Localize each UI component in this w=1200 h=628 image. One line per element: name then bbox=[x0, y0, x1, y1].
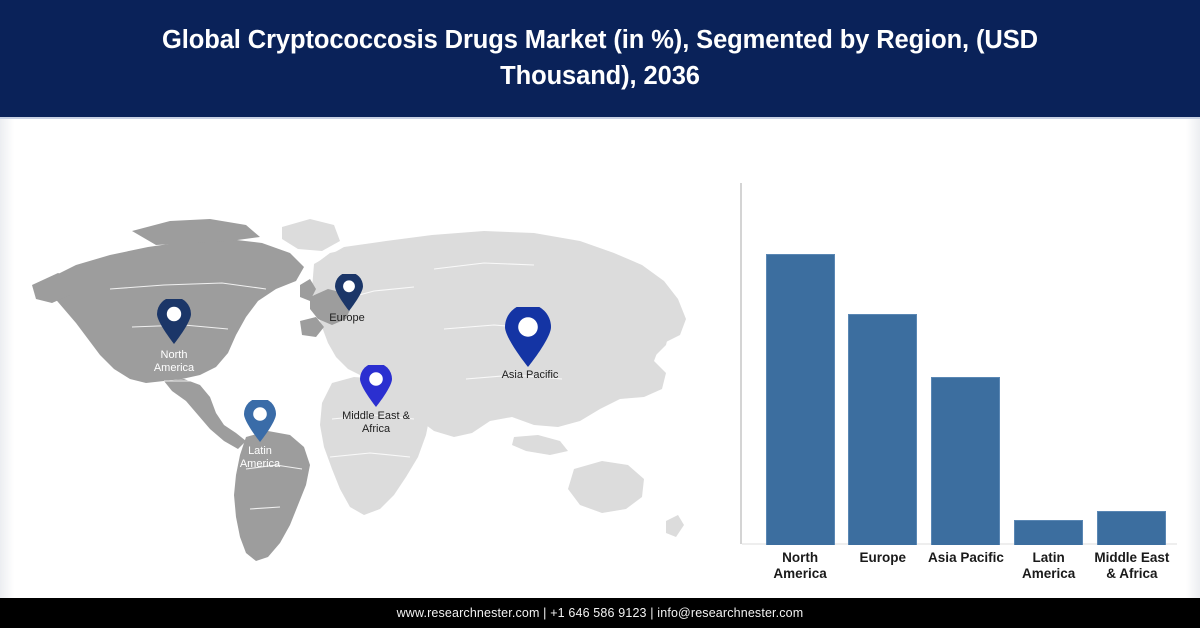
map-label-middle-east-africa: Middle East & Africa bbox=[342, 410, 410, 436]
region-bar-chart: North AmericaEuropeAsia PacificLatin Ame… bbox=[725, 174, 1185, 594]
location-pin-icon bbox=[244, 400, 276, 442]
map-pin-middle-east-africa[interactable] bbox=[360, 365, 392, 407]
world-map: North America Europe Latin America bbox=[14, 169, 720, 569]
bar-column bbox=[1014, 183, 1083, 545]
location-pin-icon bbox=[157, 299, 191, 344]
bar-column bbox=[931, 183, 1000, 545]
chart-category-labels: North AmericaEuropeAsia PacificLatin Ame… bbox=[742, 550, 1182, 594]
location-pin-icon bbox=[505, 307, 551, 367]
tick-label-middle-east-africa: Middle East & Africa bbox=[1075, 550, 1188, 583]
footer-band: www.researchnester.com | +1 646 586 9123… bbox=[0, 598, 1200, 628]
map-landmasses-dark bbox=[32, 219, 352, 561]
location-pin-icon bbox=[335, 274, 363, 311]
map-pin-europe[interactable] bbox=[335, 274, 363, 311]
map-pin-asia-pacific[interactable] bbox=[505, 307, 551, 367]
map-label-europe: Europe bbox=[329, 312, 364, 325]
infographic-page: Global Cryptococcosis Drugs Market (in %… bbox=[0, 0, 1200, 628]
map-pin-latin-america[interactable] bbox=[244, 400, 276, 442]
map-label-latin-america: Latin America bbox=[240, 445, 280, 471]
bar-column bbox=[848, 183, 917, 545]
bar-north-america[interactable] bbox=[766, 254, 835, 545]
location-pin-icon bbox=[360, 365, 392, 407]
chart-plot-area bbox=[742, 183, 1182, 545]
header-band: Global Cryptococcosis Drugs Market (in %… bbox=[0, 0, 1200, 117]
page-title: Global Cryptococcosis Drugs Market (in %… bbox=[0, 23, 1200, 93]
footer-contact-text: www.researchnester.com | +1 646 586 9123… bbox=[397, 606, 804, 620]
bar-middle-east-africa[interactable] bbox=[1097, 511, 1166, 545]
left-edge-shade bbox=[0, 119, 14, 598]
content-area: North America Europe Latin America bbox=[0, 119, 1200, 598]
map-label-north-america: North America bbox=[154, 349, 194, 375]
map-label-asia-pacific: Asia Pacific bbox=[502, 369, 559, 382]
map-pin-north-america[interactable] bbox=[157, 299, 191, 344]
bar-column bbox=[1097, 183, 1166, 545]
bar-column bbox=[766, 183, 835, 545]
bar-latin-america[interactable] bbox=[1014, 520, 1083, 545]
bar-asia-pacific[interactable] bbox=[931, 377, 1000, 545]
bar-europe[interactable] bbox=[848, 314, 917, 545]
right-edge-shade bbox=[1186, 119, 1200, 598]
